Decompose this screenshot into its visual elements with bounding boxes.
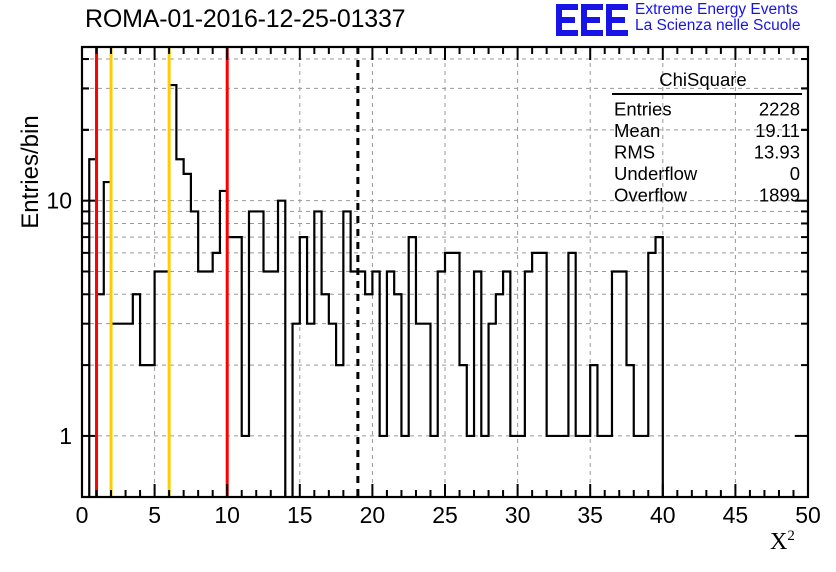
stats-row-value: 0 [790, 163, 800, 184]
x-tick-label: 15 [287, 502, 313, 528]
histogram-curve [89, 85, 663, 497]
stats-row-label: Entries [614, 99, 672, 120]
axis-tick-labels: 10105101520253035404550 [46, 188, 820, 528]
stats-row-value: 13.93 [754, 142, 800, 163]
marker-lines [97, 47, 358, 497]
stats-row-label: Mean [614, 120, 660, 141]
x-tick-label: 50 [795, 502, 821, 528]
x-tick-label: 5 [148, 502, 161, 528]
stats-row-value: 2228 [759, 99, 800, 120]
stats-box: ChiSquareEntries2228Mean19.11RMS13.93Und… [612, 69, 802, 206]
eee-logo-line2: La Scienza nelle Scuole [635, 18, 800, 34]
x-axis-label: X2 [770, 528, 795, 556]
y-axis-label: Entries/bin [17, 92, 45, 252]
x-tick-label: 0 [76, 502, 89, 528]
eee-logo-line1: Extreme Energy Events [635, 2, 800, 18]
stats-row-value: 19.11 [755, 120, 800, 141]
eee-logo: Extreme Energy Events La Scienza nelle S… [556, 2, 800, 36]
stats-row-label: RMS [614, 142, 655, 163]
x-tick-label: 10 [214, 502, 240, 528]
stats-title: ChiSquare [659, 69, 746, 90]
y-tick-label: 10 [46, 188, 72, 214]
stats-row-value: 1899 [759, 185, 800, 206]
x-tick-label: 20 [360, 502, 386, 528]
stats-row-label: Underflow [614, 163, 698, 184]
eee-letter-3 [606, 4, 628, 36]
page-title: ROMA-01-2016-12-25-01337 [85, 5, 405, 34]
x-tick-label: 30 [505, 502, 531, 528]
chart-canvas: ROMA-01-2016-12-25-01337 Extreme Energy … [0, 0, 836, 572]
eee-logo-mark [556, 4, 628, 36]
stats-row-label: Overflow [614, 185, 688, 206]
x-tick-label: 45 [723, 502, 749, 528]
eee-logo-text: Extreme Energy Events La Scienza nelle S… [635, 2, 800, 35]
x-tick-label: 25 [432, 502, 458, 528]
histogram-plot: 10105101520253035404550 ChiSquareEntries… [0, 0, 836, 572]
x-axis-label-exponent: 2 [787, 528, 795, 544]
y-tick-label: 1 [59, 423, 72, 449]
x-axis-label-base: X [770, 529, 787, 555]
x-tick-label: 35 [577, 502, 603, 528]
eee-letter-2 [581, 4, 603, 36]
eee-letter-1 [556, 4, 578, 36]
x-tick-label: 40 [650, 502, 676, 528]
